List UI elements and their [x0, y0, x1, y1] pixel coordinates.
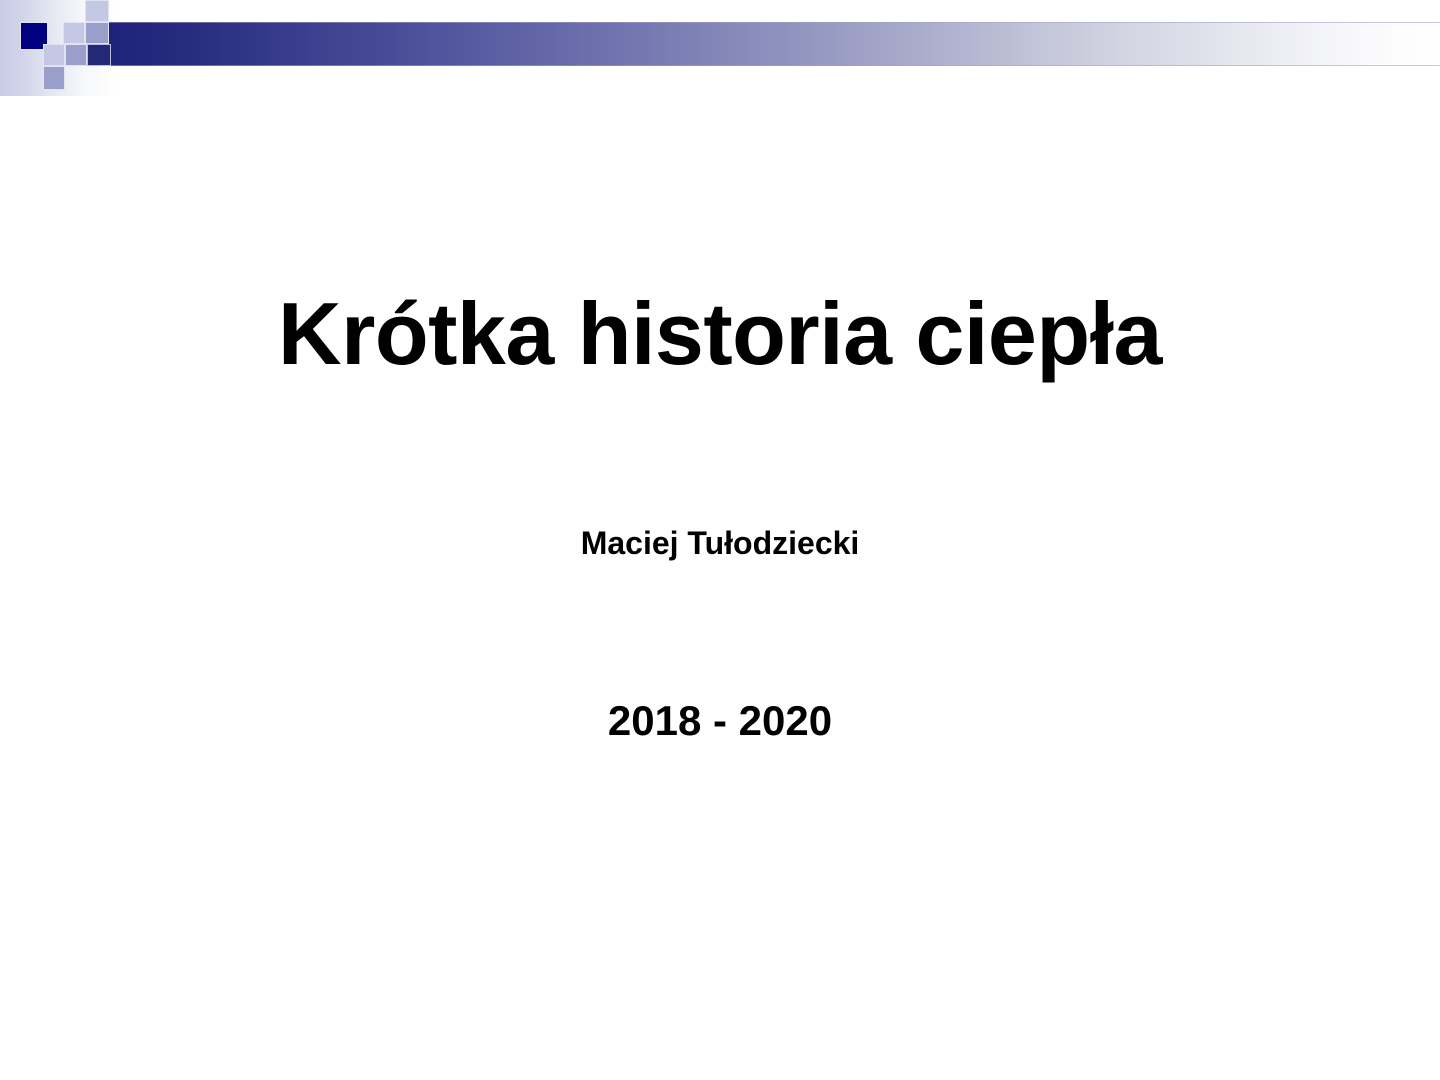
author-name: Maciej Tułodziecki	[0, 524, 1440, 562]
tile-medium-mid	[85, 22, 109, 44]
tile-dark-lower	[87, 44, 111, 66]
date-range: 2018 - 2020	[0, 696, 1440, 746]
title-slide: Krótka historia ciepła Maciej Tułodzieck…	[0, 0, 1440, 1080]
header-decoration	[0, 0, 1440, 120]
slide-title: Krótka historia ciepła	[0, 288, 1440, 380]
header-gradient-bar	[108, 22, 1440, 66]
tile-medium-bottom	[43, 66, 65, 90]
tile-medium-lower	[65, 44, 87, 66]
title-container: Krótka historia ciepła	[0, 288, 1440, 380]
date-container: 2018 - 2020	[0, 696, 1440, 746]
tile-light-top	[85, 0, 109, 22]
tile-light-mid-left	[63, 22, 85, 44]
author-container: Maciej Tułodziecki	[0, 524, 1440, 562]
tile-light-lower	[43, 44, 65, 66]
